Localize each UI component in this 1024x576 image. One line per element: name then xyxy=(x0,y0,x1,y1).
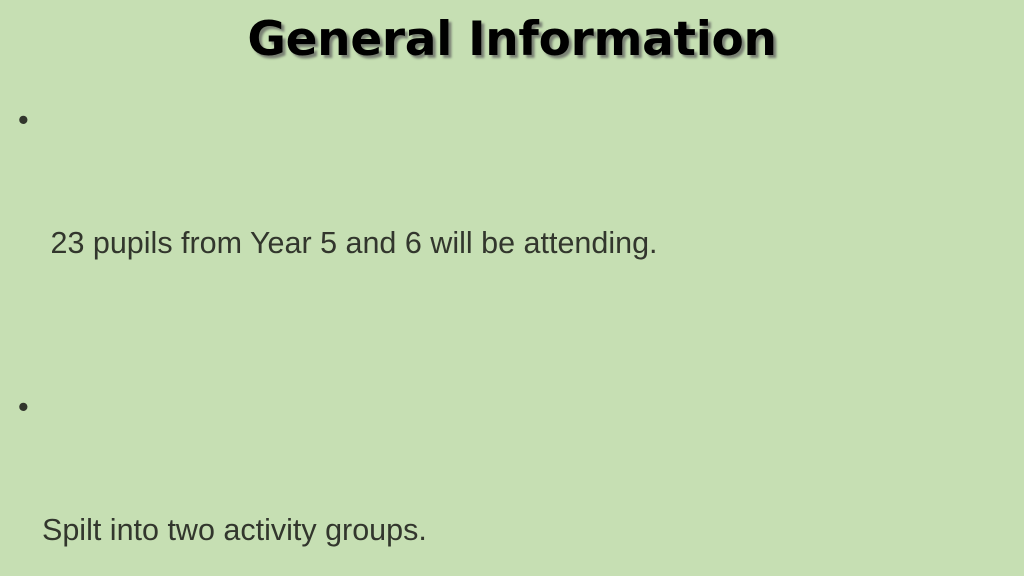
bullet-point-icon: • xyxy=(18,387,38,428)
bullet-point-icon: • xyxy=(18,100,38,141)
slide-canvas: General Information • 23 pupils from Yea… xyxy=(0,0,1024,576)
bullet-list: • 23 pupils from Year 5 and 6 will be at… xyxy=(0,100,1024,576)
list-item-text: 23 pupils from Year 5 and 6 will be atte… xyxy=(42,223,984,264)
list-item-text: Spilt into two activity groups. xyxy=(42,510,984,551)
list-item: • Spilt into two activity groups. xyxy=(0,387,1024,576)
page-title: General Information xyxy=(0,8,1024,72)
list-item: • 23 pupils from Year 5 and 6 will be at… xyxy=(0,100,1024,346)
